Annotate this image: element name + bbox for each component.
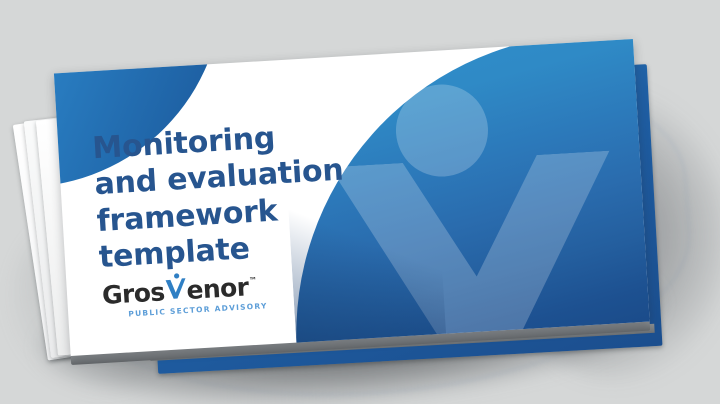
grosvenor-logo: Gros enor ™ PUBLIC SECTOR ADVISORY xyxy=(101,267,313,320)
cover-face: Monitoring and evaluation framework temp… xyxy=(54,39,650,356)
logo-word-after: enor xyxy=(186,274,249,303)
scene: Monitoring and evaluation framework temp… xyxy=(0,0,720,404)
document-cover[interactable]: Monitoring and evaluation framework temp… xyxy=(54,39,650,363)
logo-check-person-icon xyxy=(164,274,187,300)
page-title: Monitoring and evaluation framework temp… xyxy=(91,112,429,277)
logo-word-before: Gros xyxy=(101,279,165,308)
logo-trademark: ™ xyxy=(249,277,257,285)
